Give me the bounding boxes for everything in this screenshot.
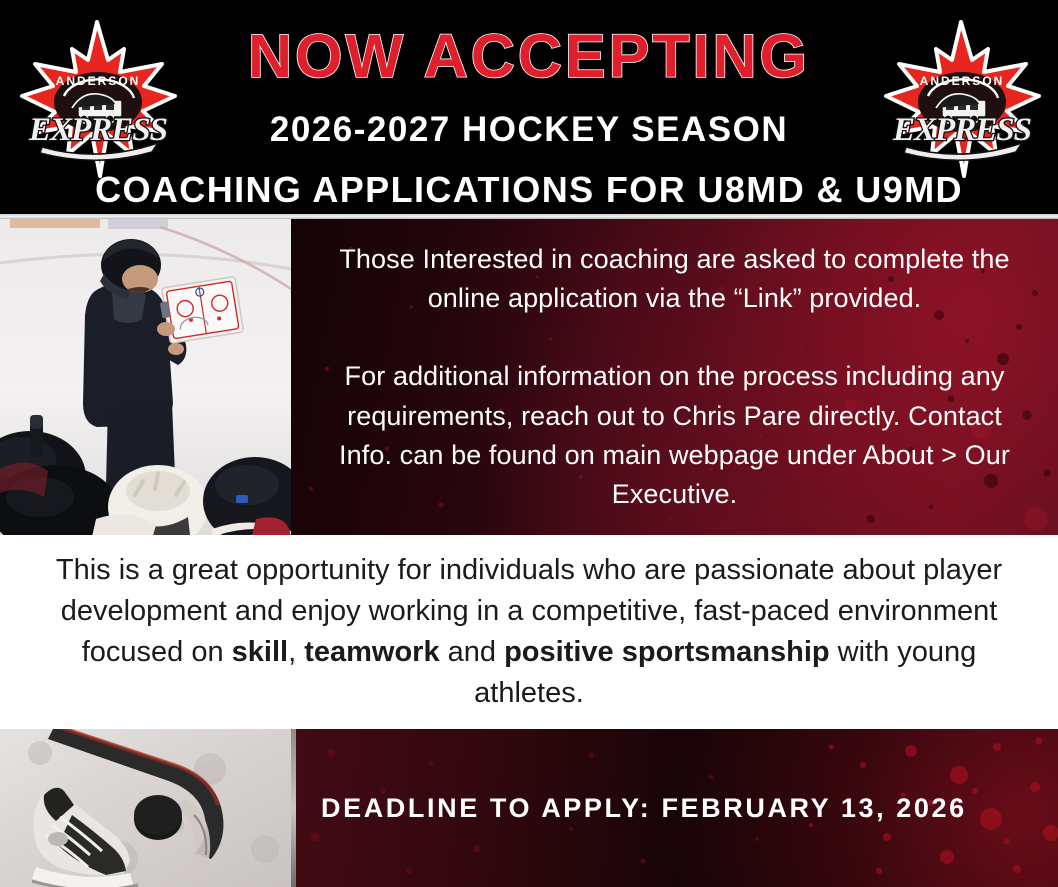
middle-red-panel: Those Interested in coaching are asked t…	[291, 219, 1058, 535]
body-copy-bold-sportsmanship: positive sportsmanship	[504, 636, 830, 668]
body-copy-bold-skill: skill	[232, 636, 288, 668]
middle-paragraph-1: Those Interested in coaching are asked t…	[317, 240, 1032, 318]
footer-section: DEADLINE TO APPLY: FEBRUARY 13, 2026	[0, 729, 1058, 887]
deadline-text: DEADLINE TO APPLY: FEBRUARY 13, 2026	[291, 793, 967, 824]
middle-paragraph-2: For additional information on the proces…	[317, 357, 1032, 514]
coach-with-clipboard-photo	[0, 219, 291, 535]
middle-copy-block: Those Interested in coaching are asked t…	[291, 219, 1058, 535]
poster-root: ANDERSON EXPRESS	[0, 0, 1058, 887]
panel-left-edge-strip	[291, 729, 296, 887]
poster-divisions-band: COACHING APPLICATIONS FOR U8MD & U9MD	[0, 166, 1058, 215]
body-copy-bold-teamwork: teamwork	[304, 636, 439, 668]
poster-header: ANDERSON EXPRESS	[0, 0, 1058, 219]
body-copy-paragraph: This is a great opportunity for individu…	[24, 550, 1034, 715]
skate-puck-stick-photo	[0, 729, 291, 887]
body-copy-joiner-1: ,	[288, 636, 304, 668]
deadline-panel: DEADLINE TO APPLY: FEBRUARY 13, 2026	[291, 729, 1058, 887]
poster-season-subtitle: 2026-2027 HOCKEY SEASON	[0, 112, 1058, 147]
body-copy-joiner-2: and	[440, 636, 505, 668]
body-copy-section: This is a great opportunity for individu…	[0, 535, 1058, 729]
poster-title: NOW ACCEPTING	[0, 26, 1058, 87]
middle-section: Those Interested in coaching are asked t…	[0, 219, 1058, 535]
